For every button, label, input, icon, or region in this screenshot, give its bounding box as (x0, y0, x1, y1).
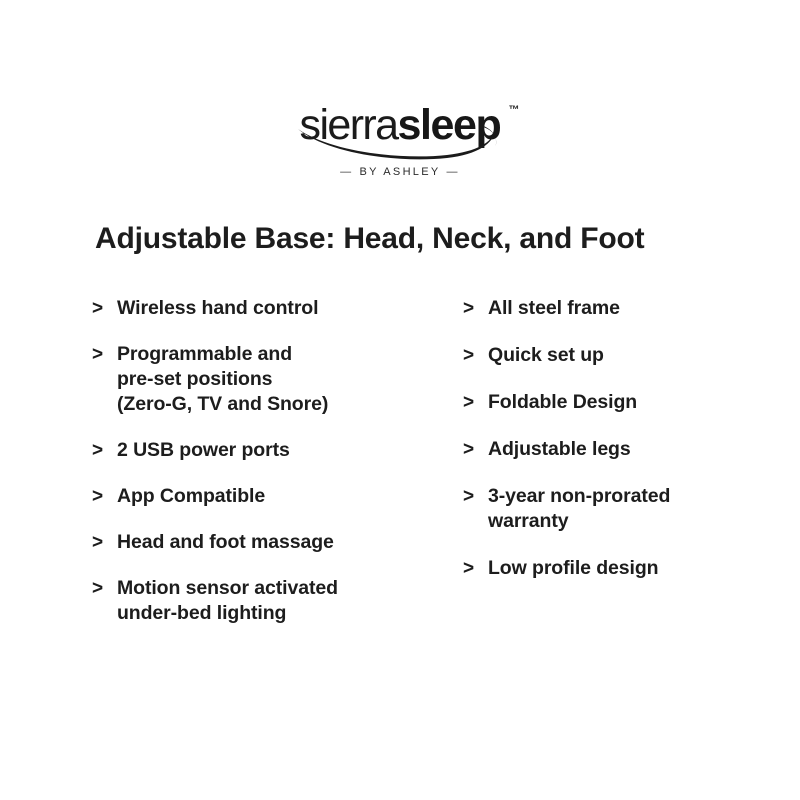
chevron-right-icon: > (463, 484, 488, 509)
trademark-icon: ™ (508, 105, 519, 116)
chevron-right-icon: > (463, 390, 488, 415)
list-item-label: Head and foot massage (117, 530, 334, 555)
chevron-right-icon: > (463, 437, 488, 462)
chevron-right-icon: > (92, 530, 117, 555)
chevron-right-icon: > (463, 556, 488, 581)
brand-byline: —BY ASHLEY— (0, 166, 800, 178)
list-item-label: Adjustable legs (488, 437, 631, 462)
chevron-right-icon: > (92, 438, 117, 463)
list-item-label: 2 USB power ports (117, 438, 290, 463)
chevron-right-icon: > (92, 296, 117, 321)
list-item-label: Low profile design (488, 556, 658, 581)
list-item-label: 3-year non-prorated warranty (488, 484, 670, 534)
list-item: > Foldable Design (463, 390, 763, 415)
logo-word-sleep: sleep (397, 101, 500, 149)
chevron-right-icon: > (463, 296, 488, 321)
list-item: > 2 USB power ports (92, 438, 422, 463)
list-item: > Motion sensor activated under-bed ligh… (92, 576, 422, 626)
logo-word-sierra: sierra (300, 101, 398, 149)
list-item-label: Motion sensor activated under-bed lighti… (117, 576, 338, 626)
list-item-label: App Compatible (117, 484, 265, 509)
list-item: > Quick set up (463, 343, 763, 368)
byline-dash-right: — (441, 166, 466, 178)
brand-logo: sierrasleep ™ (0, 104, 800, 147)
chevron-right-icon: > (92, 342, 117, 367)
list-item: > App Compatible (92, 484, 422, 509)
list-item: > Programmable and pre-set positions (Ze… (92, 342, 422, 417)
list-item: > Head and foot massage (92, 530, 422, 555)
list-item: > Adjustable legs (463, 437, 763, 462)
list-item-label: Foldable Design (488, 390, 637, 415)
list-item-label: Programmable and pre-set positions (Zero… (117, 342, 328, 417)
chevron-right-icon: > (463, 343, 488, 368)
chevron-right-icon: > (92, 484, 117, 509)
chevron-right-icon: > (92, 576, 117, 601)
list-item: > All steel frame (463, 296, 763, 321)
list-item-label: Quick set up (488, 343, 604, 368)
feature-column-right: > All steel frame > Quick set up > Folda… (463, 296, 763, 603)
list-item-label: All steel frame (488, 296, 620, 321)
byline-text: BY ASHLEY (359, 166, 440, 178)
page-title: Adjustable Base: Head, Neck, and Foot (95, 222, 644, 256)
list-item: > 3-year non-prorated warranty (463, 484, 763, 534)
feature-column-left: > Wireless hand control > Programmable a… (92, 296, 422, 647)
logo-wordmark: sierrasleep ™ (300, 104, 501, 147)
product-feature-card: sierrasleep ™ —BY ASHLEY— Adjustable Bas… (0, 0, 800, 800)
list-item-label: Wireless hand control (117, 296, 318, 321)
byline-dash-left: — (334, 166, 359, 178)
list-item: > Low profile design (463, 556, 763, 581)
list-item: > Wireless hand control (92, 296, 422, 321)
